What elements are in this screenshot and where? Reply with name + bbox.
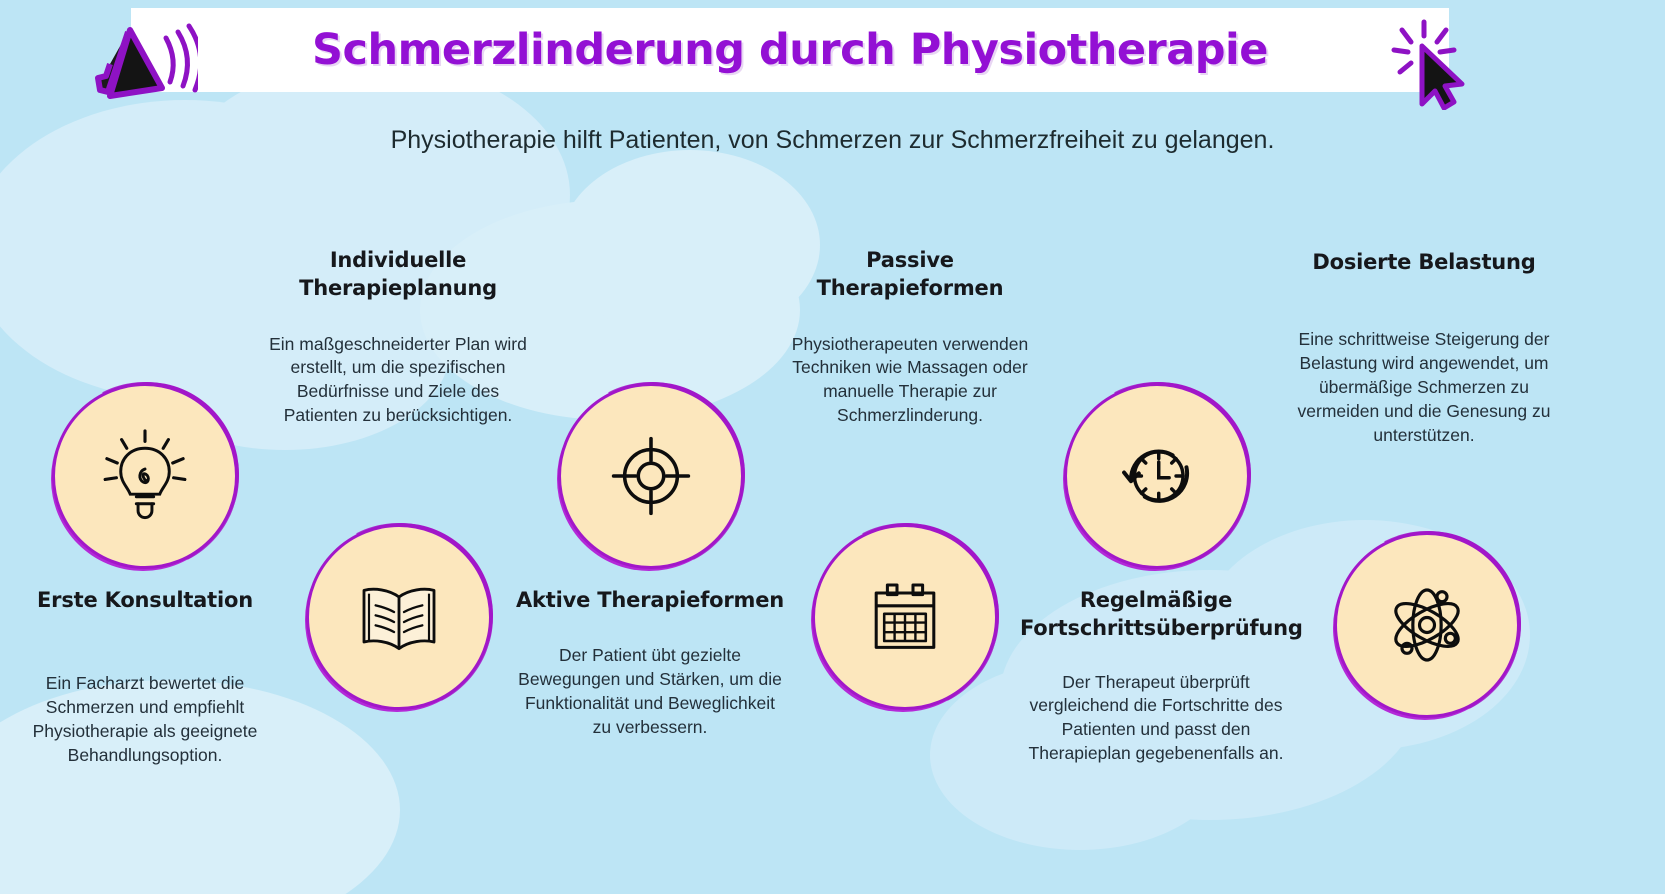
step-6: Dosierte Belastung Eine schrittweise Ste… xyxy=(1288,248,1560,447)
open-book-icon xyxy=(306,524,492,710)
step-badge-book xyxy=(306,524,492,710)
page-title: Schmerzlinderung durch Physiotherapie xyxy=(131,8,1449,92)
step-description: Ein maßgeschneiderter Plan wird erstellt… xyxy=(262,333,534,428)
megaphone-icon xyxy=(88,18,198,110)
step-4: Passive Therapieformen Physiotherapeuten… xyxy=(774,246,1046,428)
step-heading: Regelmäßige Fortschrittsüberprüfung xyxy=(1020,586,1292,643)
step-heading: Erste Konsultation xyxy=(9,586,281,614)
step-description: Der Patient übt gezielte Bewegungen und … xyxy=(514,644,786,739)
step-description: Physiotherapeuten verwenden Techniken wi… xyxy=(774,333,1046,428)
step-badge-lightbulb xyxy=(52,383,238,569)
step-badge-clock xyxy=(1064,383,1250,569)
step-heading: Aktive Therapieformen xyxy=(514,586,786,614)
step-heading: Passive Therapieformen xyxy=(774,246,1046,303)
step-badge-atom xyxy=(1334,532,1520,718)
atom-icon xyxy=(1334,532,1520,718)
step-5: Regelmäßige Fortschrittsüberprüfung Der … xyxy=(1020,586,1292,766)
step-description: Eine schrittweise Steigerung der Belastu… xyxy=(1288,328,1560,447)
step-1: Erste Konsultation Ein Facharzt bewertet… xyxy=(9,586,281,768)
click-cursor-icon xyxy=(1378,18,1470,110)
step-badge-calendar xyxy=(812,524,998,710)
infographic-canvas: Schmerzlinderung durch Physiotherapie Ph… xyxy=(0,0,1665,894)
clock-refresh-icon xyxy=(1064,383,1250,569)
step-3: Aktive Therapieformen Der Patient übt ge… xyxy=(514,586,786,740)
step-2: Individuelle Therapieplanung Ein maßgesc… xyxy=(262,246,534,428)
lightbulb-icon xyxy=(52,383,238,569)
target-icon xyxy=(558,383,744,569)
step-description: Ein Facharzt bewertet die Schmerzen und … xyxy=(9,672,281,767)
step-heading: Individuelle Therapieplanung xyxy=(262,246,534,303)
step-heading: Dosierte Belastung xyxy=(1288,248,1560,276)
step-description: Der Therapeut überprüft vergleichend die… xyxy=(1020,671,1292,766)
calendar-icon xyxy=(812,524,998,710)
subtitle: Physiotherapie hilft Patienten, von Schm… xyxy=(0,126,1665,155)
step-badge-target xyxy=(558,383,744,569)
